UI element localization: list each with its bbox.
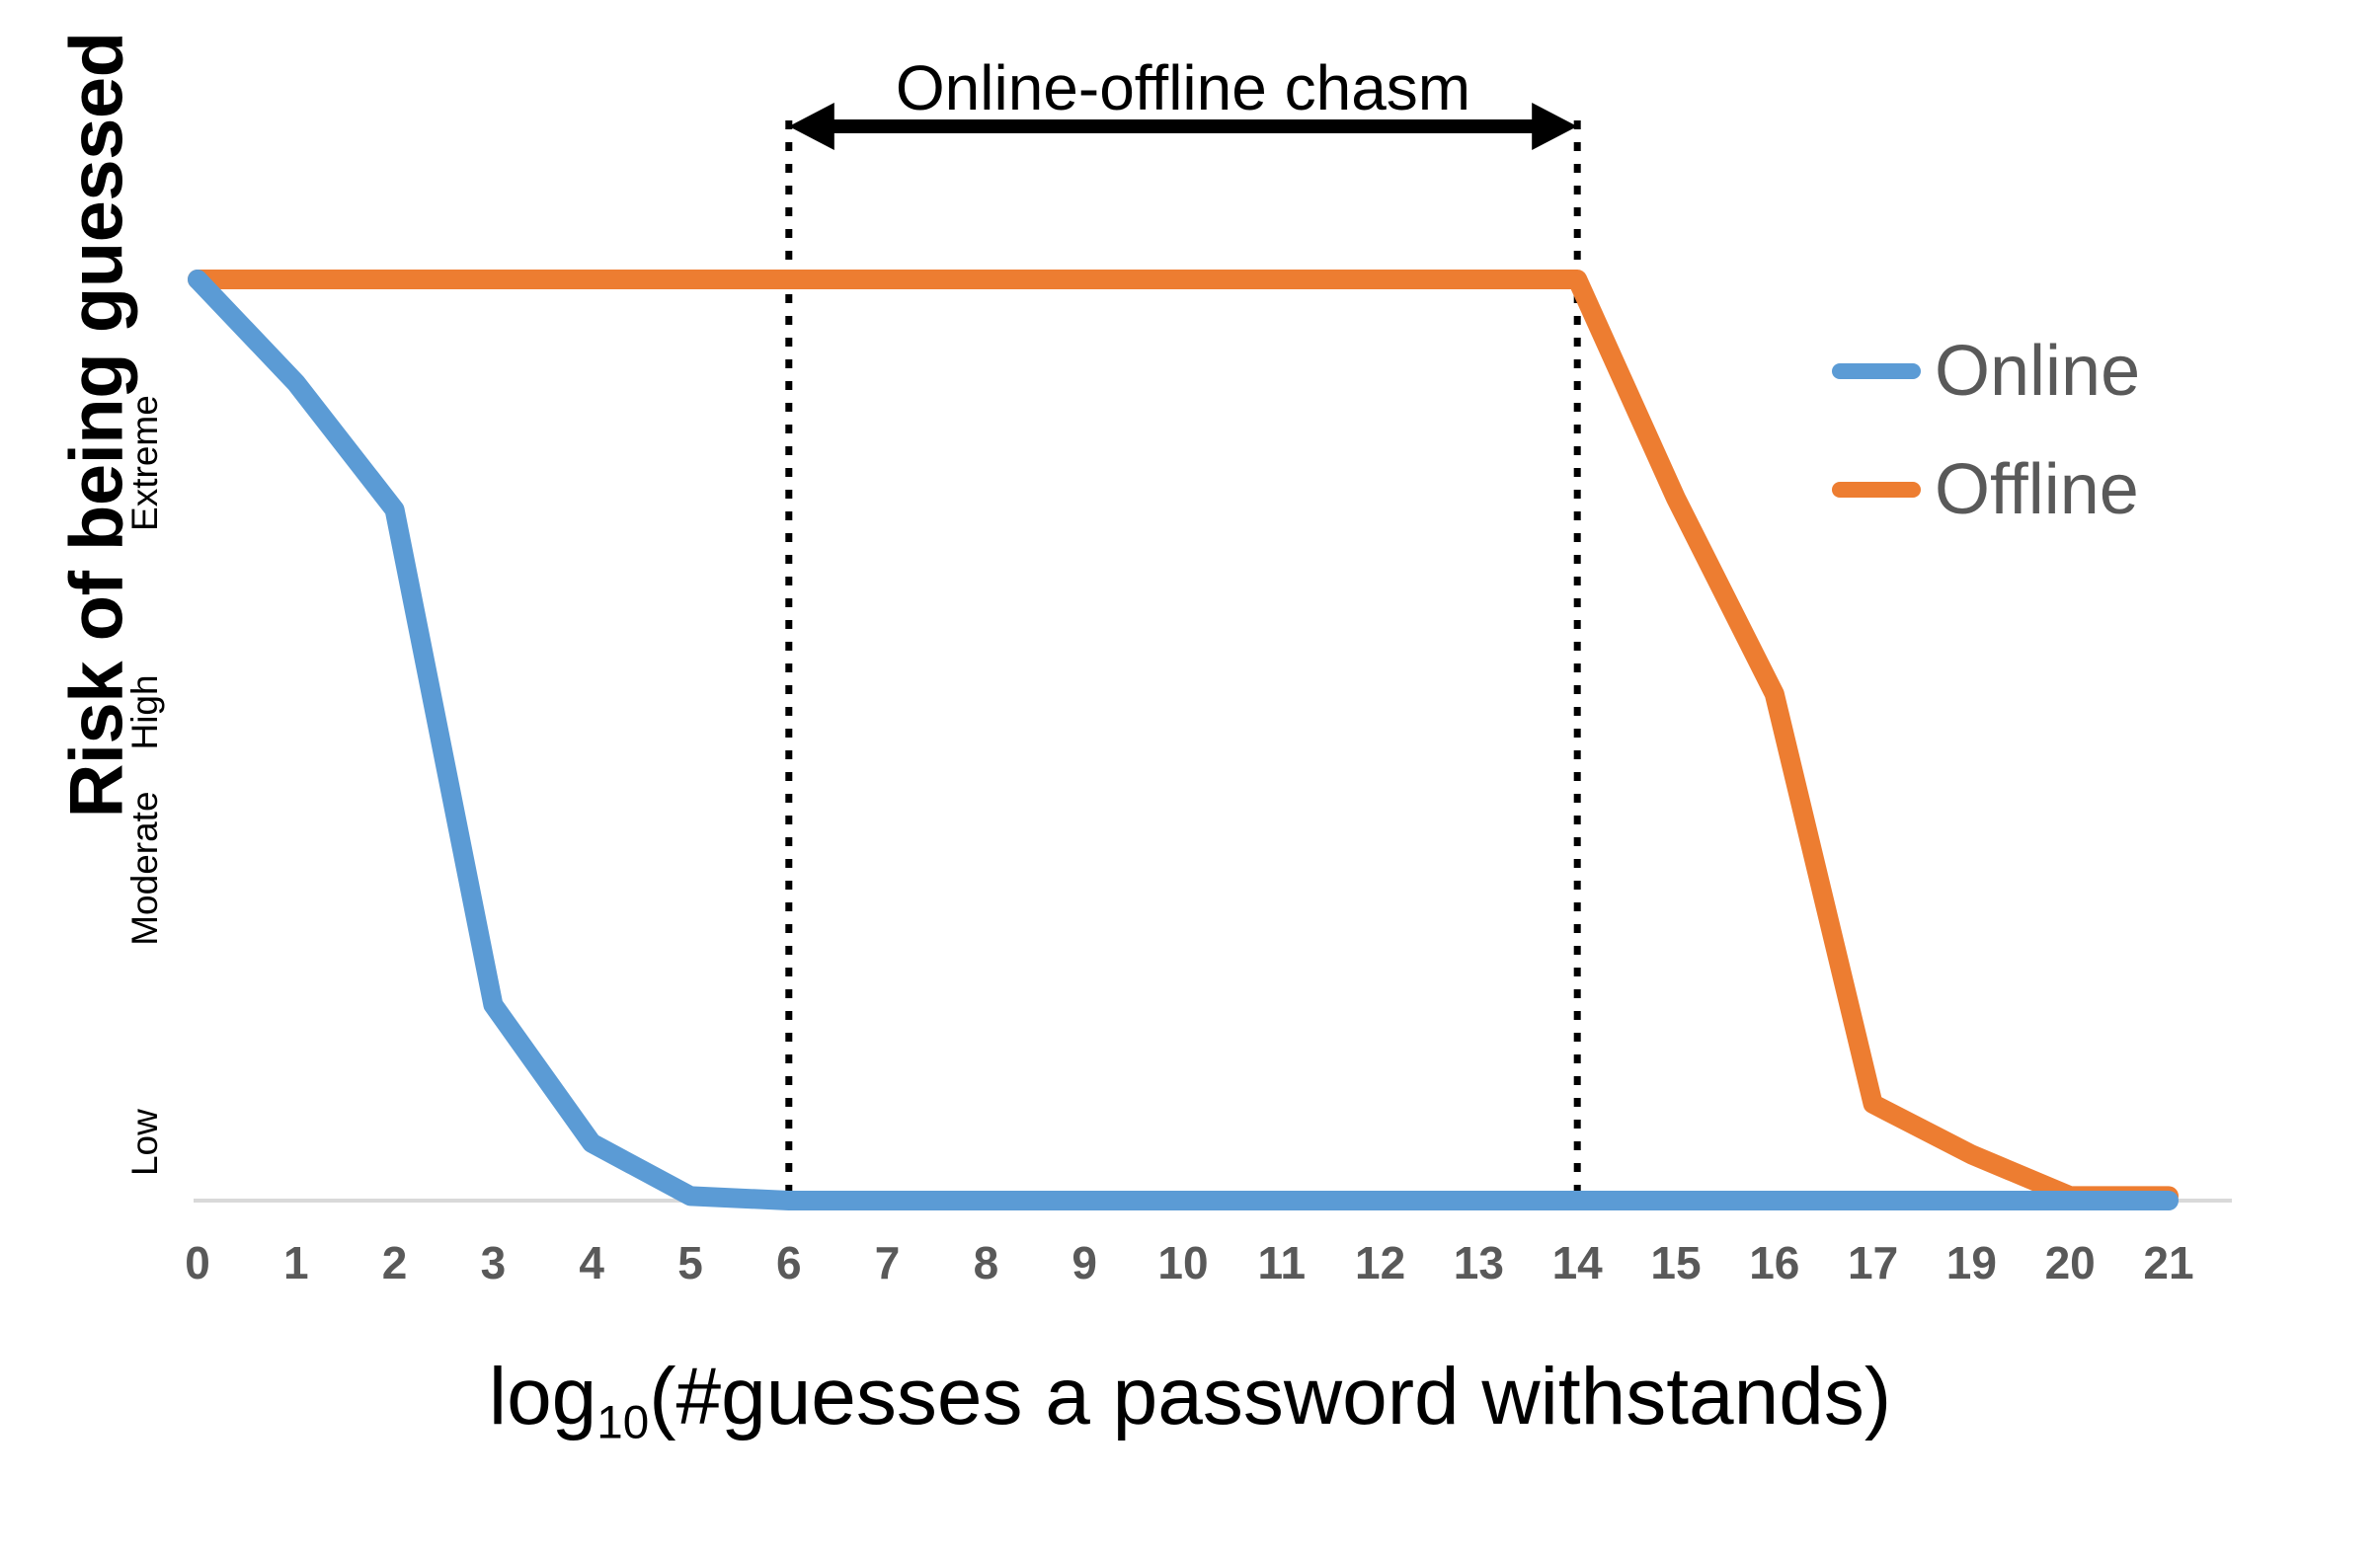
- x-tick-label-21: 21: [2143, 1236, 2193, 1289]
- legend-item-online[interactable]: Online: [1832, 336, 2140, 407]
- x-tick-label-1: 1: [283, 1236, 309, 1289]
- x-tick-label-6: 6: [776, 1236, 802, 1289]
- plot-canvas: [0, 0, 2380, 1558]
- x-tick-label-7: 7: [875, 1236, 901, 1289]
- x-axis-title: log10(#guesses a password withstands): [0, 1351, 2380, 1449]
- x-tick-label-13: 13: [1454, 1236, 1504, 1289]
- x-tick-label-16: 16: [1749, 1236, 1799, 1289]
- x-tick-label-0: 0: [185, 1236, 210, 1289]
- chart-figure: Risk of being guessed Low Moderate High …: [0, 0, 2380, 1558]
- x-tick-label-15: 15: [1650, 1236, 1701, 1289]
- legend-swatch-offline: [1832, 482, 1921, 498]
- x-tick-label-19: 19: [1946, 1236, 1997, 1289]
- legend-label-offline: Offline: [1935, 454, 2139, 525]
- x-tick-label-11: 11: [1257, 1236, 1306, 1289]
- x-tick-label-8: 8: [974, 1236, 999, 1289]
- x-tick-label-3: 3: [481, 1236, 507, 1289]
- x-tick-label-14: 14: [1552, 1236, 1603, 1289]
- x-tick-label-10: 10: [1157, 1236, 1208, 1289]
- x-axis-title-main: log: [489, 1352, 596, 1441]
- x-axis-title-rest: (#guesses a password withstands): [649, 1352, 1891, 1441]
- x-axis-title-subscript: 10: [596, 1396, 649, 1448]
- legend-item-offline[interactable]: Offline: [1832, 454, 2140, 525]
- x-tick-label-20: 20: [2045, 1236, 2096, 1289]
- legend-label-online: Online: [1935, 336, 2140, 407]
- x-tick-label-5: 5: [677, 1236, 703, 1289]
- x-tick-label-2: 2: [382, 1236, 408, 1289]
- chasm-annotation-label: Online-offline chasm: [789, 51, 1577, 124]
- x-tick-label-4: 4: [579, 1236, 604, 1289]
- x-tick-label-9: 9: [1071, 1236, 1097, 1289]
- legend-swatch-online: [1832, 363, 1921, 379]
- x-tick-label-17: 17: [1848, 1236, 1898, 1289]
- x-tick-label-12: 12: [1355, 1236, 1405, 1289]
- legend: Online Offline: [1832, 336, 2140, 525]
